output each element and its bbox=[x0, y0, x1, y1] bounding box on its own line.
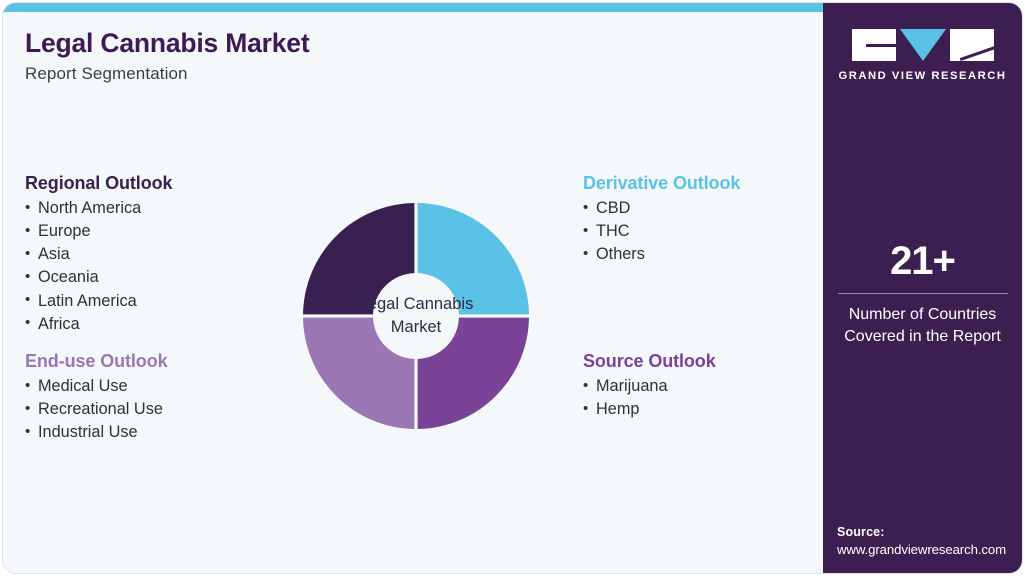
donut-segment-source bbox=[416, 316, 529, 429]
group-derivative-outlook: Derivative Outlook CBD THC Others bbox=[583, 173, 740, 266]
infographic-canvas: Legal Cannabis Market Report Segmentatio… bbox=[0, 0, 1025, 576]
list-item: Hemp bbox=[583, 398, 716, 421]
list-item: Medical Use bbox=[25, 375, 168, 398]
donut-gap-bottom bbox=[414, 358, 417, 430]
list-item: Europe bbox=[25, 220, 172, 243]
list-item: Africa bbox=[25, 313, 172, 336]
list-item: Others bbox=[583, 243, 740, 266]
gvr-logo-r-icon bbox=[950, 29, 994, 61]
list-item: THC bbox=[583, 220, 740, 243]
brand-logo: GRAND VIEW RESEARCH bbox=[823, 29, 1022, 82]
list-item: North America bbox=[25, 197, 172, 220]
source-label: Source: bbox=[837, 525, 1022, 539]
stat-block-countries: 21+ Number of Countries Covered in the R… bbox=[823, 241, 1022, 347]
brand-logo-text: GRAND VIEW RESEARCH bbox=[838, 70, 1006, 82]
list-item: Oceania bbox=[25, 266, 172, 289]
stat-value: 21+ bbox=[823, 241, 1022, 281]
donut-gap-top bbox=[414, 202, 417, 274]
title-block: Legal Cannabis Market Report Segmentatio… bbox=[25, 28, 625, 84]
group-regional-outlook: Regional Outlook North America Europe As… bbox=[25, 173, 172, 336]
group-heading-derivative: Derivative Outlook bbox=[583, 173, 740, 194]
group-list-regional: North America Europe Asia Oceania Latin … bbox=[25, 197, 172, 336]
donut-segment-derivative bbox=[416, 203, 529, 316]
donut-segment-regional bbox=[303, 203, 416, 316]
right-side-panel: GRAND VIEW RESEARCH 21+ Number of Countr… bbox=[823, 3, 1022, 574]
source-block: Source: www.grandviewresearch.com bbox=[837, 525, 1022, 557]
brand-logo-marks bbox=[852, 29, 994, 61]
list-item: Recreational Use bbox=[25, 398, 168, 421]
infographic-card: Legal Cannabis Market Report Segmentatio… bbox=[2, 2, 1023, 574]
list-item: CBD bbox=[583, 197, 740, 220]
donut-gap-right bbox=[458, 314, 530, 317]
page-title: Legal Cannabis Market bbox=[25, 28, 625, 58]
gvr-logo-g-icon bbox=[852, 29, 896, 61]
page-subtitle: Report Segmentation bbox=[25, 64, 625, 84]
list-item: Latin America bbox=[25, 290, 172, 313]
group-list-derivative: CBD THC Others bbox=[583, 197, 740, 266]
group-list-enduse: Medical Use Recreational Use Industrial … bbox=[25, 375, 168, 444]
stat-caption: Number of Countries Covered in the Repor… bbox=[823, 304, 1022, 347]
source-url: www.grandviewresearch.com bbox=[837, 542, 1022, 557]
list-item: Industrial Use bbox=[25, 421, 168, 444]
donut-gap-left bbox=[302, 314, 374, 317]
group-heading-source: Source Outlook bbox=[583, 351, 716, 372]
list-item: Asia bbox=[25, 243, 172, 266]
donut-chart: Legal Cannabis Market bbox=[275, 175, 557, 457]
donut-segment-enduse bbox=[303, 316, 416, 429]
list-item: Marijuana bbox=[583, 375, 716, 398]
group-enduse-outlook: End-use Outlook Medical Use Recreational… bbox=[25, 351, 168, 444]
group-source-outlook: Source Outlook Marijuana Hemp bbox=[583, 351, 716, 421]
stat-divider bbox=[838, 293, 1008, 294]
donut-chart-svg bbox=[275, 175, 557, 457]
group-list-source: Marijuana Hemp bbox=[583, 375, 716, 421]
group-heading-regional: Regional Outlook bbox=[25, 173, 172, 194]
gvr-logo-v-triangle-icon bbox=[900, 29, 946, 61]
group-heading-enduse: End-use Outlook bbox=[25, 351, 168, 372]
